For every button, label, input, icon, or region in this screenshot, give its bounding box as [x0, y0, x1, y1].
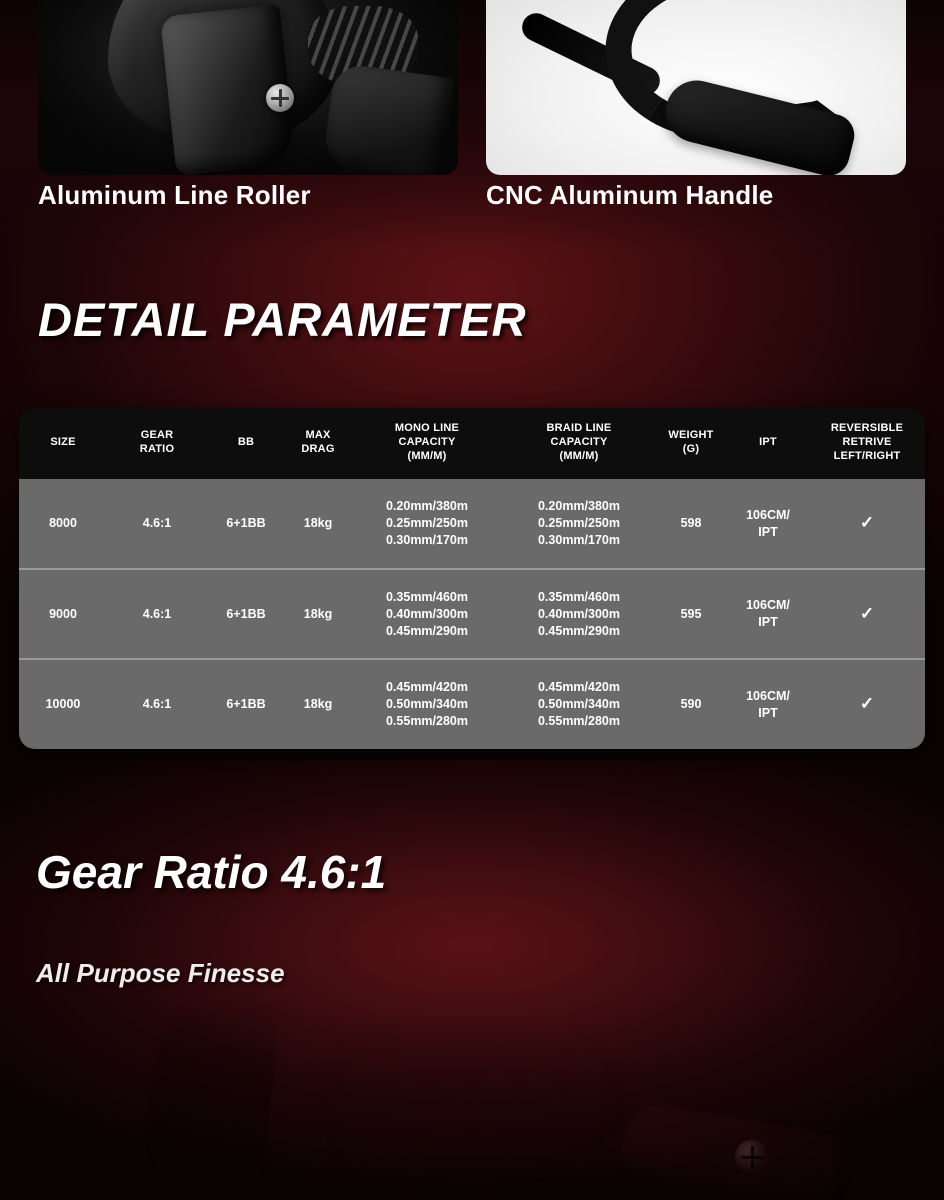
cell-ipt: 106CM/ IPT	[727, 479, 809, 569]
col-header-mono-line-capacity: MONO LINE CAPACITY (MM/M)	[351, 408, 503, 479]
silhouette-screw-icon	[735, 1140, 769, 1174]
cell-gear-ratio: 4.6:1	[107, 659, 207, 749]
silhouette-body-shape	[330, 1020, 630, 1200]
product-photo-row	[0, 0, 944, 175]
spec-table-body: 8000 4.6:1 6+1BB 18kg 0.20mm/380m 0.25mm…	[19, 479, 925, 749]
spec-table-card: SIZE GEAR RATIO BB MAX DRAG MONO LINE	[19, 408, 925, 749]
cell-mono-capacity: 0.35mm/460m 0.40mm/300m 0.45mm/290m	[351, 569, 503, 659]
spec-table-head: SIZE GEAR RATIO BB MAX DRAG MONO LINE	[19, 408, 925, 479]
cell-weight: 598	[655, 479, 727, 569]
cell-size: 10000	[19, 659, 107, 749]
col-header-max-drag: MAX DRAG	[285, 408, 351, 479]
cell-gear-ratio: 4.6:1	[107, 569, 207, 659]
cell-size: 8000	[19, 479, 107, 569]
silhouette-handle-knob-shape	[615, 1099, 856, 1200]
cell-mono-capacity: 0.20mm/380m 0.25mm/250m 0.30mm/170m	[351, 479, 503, 569]
screw-icon	[266, 84, 294, 112]
cell-braid-capacity: 0.45mm/420m 0.50mm/340m 0.55mm/280m	[503, 659, 655, 749]
table-row: 9000 4.6:1 6+1BB 18kg 0.35mm/460m 0.40mm…	[19, 569, 925, 659]
cell-bb: 6+1BB	[207, 659, 285, 749]
reel-foot-shape	[321, 62, 455, 175]
cell-max-drag: 18kg	[285, 479, 351, 569]
photo-cnc-aluminum-handle	[486, 0, 906, 175]
cell-reversible: ✓	[809, 569, 925, 659]
table-row: 8000 4.6:1 6+1BB 18kg 0.20mm/380m 0.25mm…	[19, 479, 925, 569]
cell-ipt: 106CM/ IPT	[727, 569, 809, 659]
photo-caption-row: Aluminum Line Roller CNC Aluminum Handle	[0, 180, 944, 211]
col-header-gear-ratio: GEAR RATIO	[107, 408, 207, 479]
cell-weight: 595	[655, 569, 727, 659]
cell-ipt: 106CM/ IPT	[727, 659, 809, 749]
cell-braid-capacity: 0.35mm/460m 0.40mm/300m 0.45mm/290m	[503, 569, 655, 659]
check-icon: ✓	[860, 513, 874, 532]
spec-table-header-row: SIZE GEAR RATIO BB MAX DRAG MONO LINE	[19, 408, 925, 479]
cell-size: 9000	[19, 569, 107, 659]
cell-reversible: ✓	[809, 479, 925, 569]
product-silhouette	[0, 1000, 944, 1200]
subheading-all-purpose-finesse: All Purpose Finesse	[36, 958, 285, 989]
col-header-reversible-retrive: REVERSIBLE RETRIVE LEFT/RIGHT	[809, 408, 925, 479]
cell-bb: 6+1BB	[207, 479, 285, 569]
col-header-bb: BB	[207, 408, 285, 479]
silhouette-arm-shape	[140, 994, 280, 1200]
heading-gear-ratio: Gear Ratio 4.6:1	[36, 845, 386, 899]
cell-braid-capacity: 0.20mm/380m 0.25mm/250m 0.30mm/170m	[503, 479, 655, 569]
caption-line-roller: Aluminum Line Roller	[38, 180, 458, 211]
col-header-braid-line-capacity: BRAID LINE CAPACITY (MM/M)	[503, 408, 655, 479]
cell-reversible: ✓	[809, 659, 925, 749]
cell-weight: 590	[655, 659, 727, 749]
check-icon: ✓	[860, 604, 874, 623]
check-icon: ✓	[860, 694, 874, 713]
col-header-size: SIZE	[19, 408, 107, 479]
spec-table: SIZE GEAR RATIO BB MAX DRAG MONO LINE	[19, 408, 925, 749]
section-title-detail-parameter: DETAIL PARAMETER	[38, 292, 527, 347]
table-row: 10000 4.6:1 6+1BB 18kg 0.45mm/420m 0.50m…	[19, 659, 925, 749]
cell-bb: 6+1BB	[207, 569, 285, 659]
cell-max-drag: 18kg	[285, 569, 351, 659]
caption-handle: CNC Aluminum Handle	[486, 180, 906, 211]
col-header-ipt: IPT	[727, 408, 809, 479]
photo-aluminum-line-roller	[38, 0, 458, 175]
cell-max-drag: 18kg	[285, 659, 351, 749]
cell-mono-capacity: 0.45mm/420m 0.50mm/340m 0.55mm/280m	[351, 659, 503, 749]
col-header-weight: WEIGHT (G)	[655, 408, 727, 479]
cell-gear-ratio: 4.6:1	[107, 479, 207, 569]
